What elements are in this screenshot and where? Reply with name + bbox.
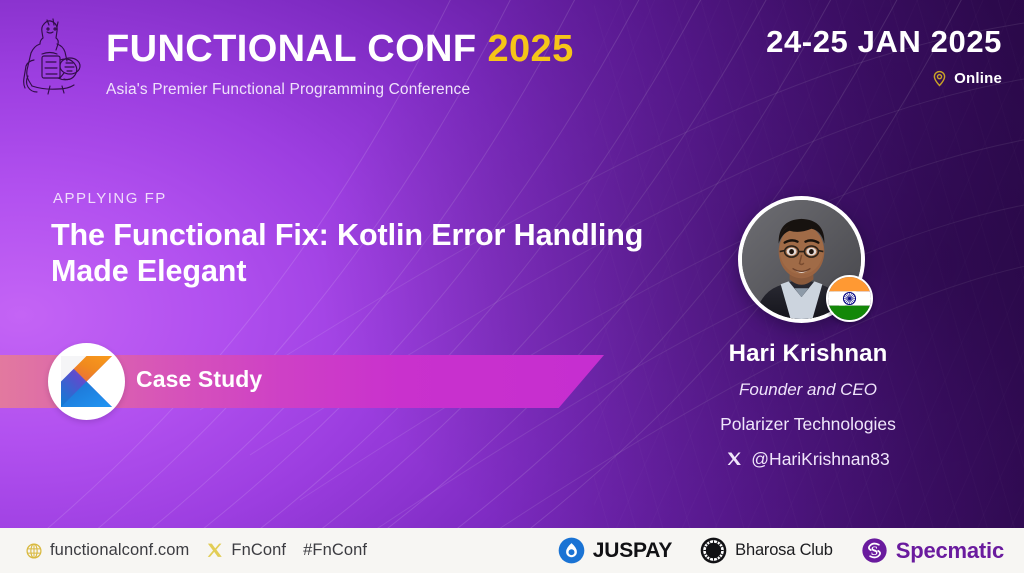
speaker-social-handle: @HariKrishnan83 bbox=[751, 449, 889, 470]
hashtag: #FnConf bbox=[303, 541, 367, 560]
specmatic-logo-icon: S bbox=[861, 537, 888, 564]
sponsor-juspay[interactable]: JUSPAY bbox=[558, 537, 672, 564]
bharosa-club-logo-icon bbox=[700, 537, 727, 564]
conference-tagline: Asia's Premier Functional Programming Co… bbox=[106, 81, 574, 99]
sponsor-logos: JUSPAY bbox=[558, 537, 1024, 564]
kotlin-logo-badge bbox=[48, 343, 125, 420]
brand-text: FUNCTIONAL CONF 2025 Asia's Premier Func… bbox=[106, 16, 574, 99]
header: FUNCTIONAL CONF 2025 Asia's Premier Func… bbox=[0, 0, 1024, 120]
sponsor-name: JUSPAY bbox=[593, 539, 672, 563]
session-card: FUNCTIONAL CONF 2025 Asia's Premier Func… bbox=[0, 0, 1024, 573]
conference-title-year: 2025 bbox=[487, 28, 573, 70]
x-twitter-icon bbox=[726, 451, 743, 468]
speaker-organization: Polarizer Technologies bbox=[640, 414, 976, 435]
speaker-role: Founder and CEO bbox=[640, 380, 976, 400]
juspay-logo-icon bbox=[558, 537, 585, 564]
speaker-social: @HariKrishnan83 bbox=[640, 449, 976, 470]
hashtag-label: #FnConf bbox=[303, 541, 367, 560]
session-type-label: Case Study bbox=[136, 366, 262, 393]
x-twitter-icon bbox=[206, 542, 224, 560]
map-pin-icon bbox=[931, 70, 948, 87]
footer: functionalconf.com FnConf #FnConf JUSPAY bbox=[0, 528, 1024, 573]
social-link[interactable]: FnConf bbox=[206, 541, 286, 560]
india-flag-icon bbox=[828, 277, 871, 320]
speaker-details: Hari Krishnan Founder and CEO Polarizer … bbox=[640, 340, 976, 470]
conference-dates: 24-25 JAN 2025 bbox=[766, 26, 1002, 57]
session-title: The Functional Fix: Kotlin Error Handlin… bbox=[51, 218, 651, 290]
location-row: Online bbox=[766, 70, 1002, 87]
svg-text:S: S bbox=[871, 544, 878, 558]
website-label: functionalconf.com bbox=[50, 541, 189, 560]
kotlin-logo-icon bbox=[61, 356, 112, 407]
speaker-name: Hari Krishnan bbox=[640, 340, 976, 368]
website-link[interactable]: functionalconf.com bbox=[25, 541, 189, 560]
date-location-block: 24-25 JAN 2025 Online bbox=[766, 26, 1002, 87]
brand: FUNCTIONAL CONF 2025 Asia's Premier Func… bbox=[14, 16, 574, 99]
location-label: Online bbox=[954, 70, 1002, 87]
session-track-label: APPLYING FP bbox=[53, 190, 167, 207]
sponsor-specmatic[interactable]: S Specmatic bbox=[861, 537, 1004, 564]
conference-title: FUNCTIONAL CONF 2025 bbox=[106, 30, 574, 68]
social-label: FnConf bbox=[231, 541, 286, 560]
conference-title-main: FUNCTIONAL CONF bbox=[106, 28, 477, 70]
sponsor-name: Specmatic bbox=[896, 538, 1004, 564]
india-flag-badge bbox=[826, 275, 873, 322]
globe-icon bbox=[25, 542, 43, 560]
conference-mascot-logo-icon bbox=[14, 16, 86, 96]
sponsor-bharosa-club[interactable]: Bharosa Club bbox=[700, 537, 833, 564]
sponsor-name: Bharosa Club bbox=[735, 541, 833, 560]
footer-links: functionalconf.com FnConf #FnConf bbox=[0, 541, 367, 560]
